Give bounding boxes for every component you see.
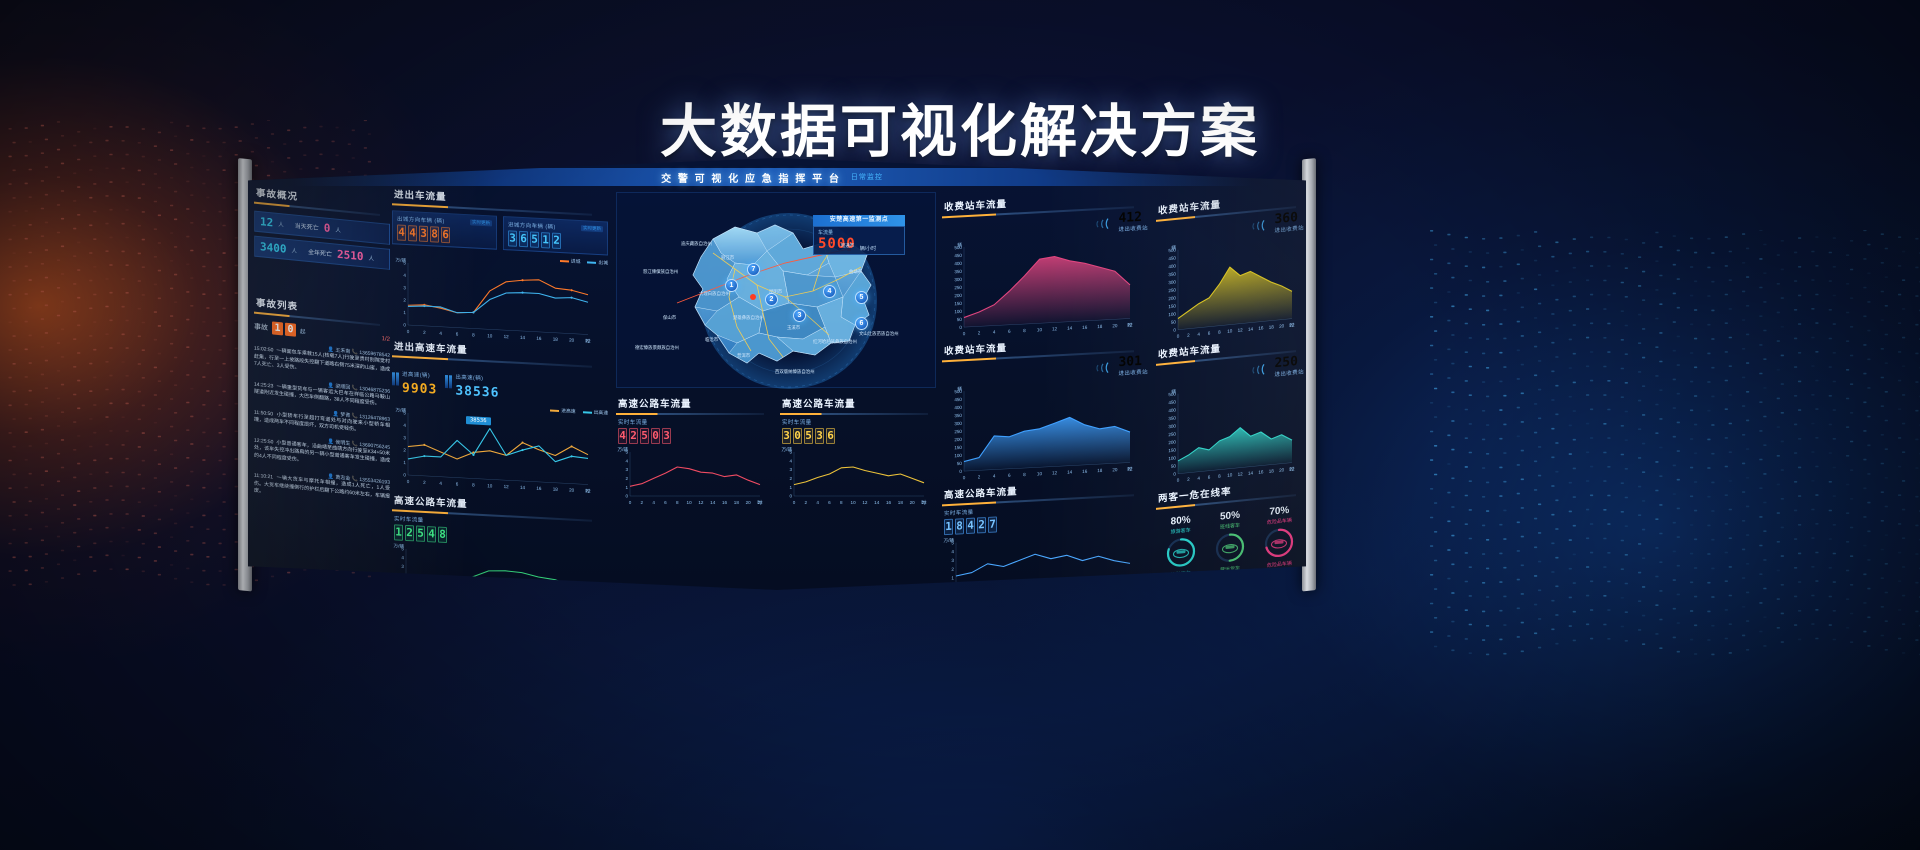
svg-text:10: 10 [487,483,493,488]
svg-text:300: 300 [954,421,962,426]
inout-flow-card: 出城方向车辆 (辆) 实时更新 44386 [392,210,497,250]
page-root: 大数据可视化解决方案 事故概况 12 人 当天死亡 0 人3400 人 全年死亡… [0,0,1920,850]
svg-text:2: 2 [625,476,628,481]
svg-text:3: 3 [403,435,406,440]
svg-text:万/辆: 万/辆 [396,256,407,264]
card-label: 出城方向车辆 (辆) [397,214,445,225]
svg-text:14: 14 [520,335,526,340]
card-tag: 实时更新 [581,225,603,232]
svg-text:150: 150 [1168,448,1176,454]
accident-overview-rows: 12 人 当天死亡 0 人3400 人 全年死亡 2510 人 [254,211,390,270]
page-title: 大数据可视化解决方案 [0,86,1920,168]
digit: 5 [416,525,425,541]
svg-text:4: 4 [789,458,792,463]
map-label: 昆明市 [769,289,782,295]
svg-text:12: 12 [1238,327,1244,333]
svg-text:200: 200 [1168,296,1176,302]
map-label: 怒江傈僳族自治州 [643,269,678,275]
svg-text:时: 时 [585,487,590,493]
svg-text:20: 20 [1112,323,1118,328]
svg-text:8: 8 [1023,328,1026,333]
status-date: 2018-01 [1275,167,1302,176]
svg-text:20: 20 [1112,467,1118,472]
wave-icon [1248,217,1270,233]
svg-text:1: 1 [403,310,406,315]
svg-text:3: 3 [951,558,954,563]
panel-online-rate: 两客一危在线率 80% 旅游客车 旅游客车 5000050% 班线客车 营运货车 [1156,474,1304,590]
screen-surface: 事故概况 12 人 当天死亡 0 人3400 人 全年死亡 2510 人 事故列… [248,158,1306,590]
map-pin-5[interactable]: 5 [855,291,868,304]
online-rate-gauges: 80% 旅游客车 旅游客车 5000050% 班线客车 营运货车 600070%… [1156,503,1304,587]
svg-text:2: 2 [978,474,981,479]
svg-text:4: 4 [401,555,404,560]
map-label: 楚雄彝族自治州 [733,315,764,321]
svg-text:20: 20 [569,487,575,492]
svg-text:450: 450 [1168,256,1176,262]
svg-text:100: 100 [1168,456,1176,462]
svg-text:250: 250 [1168,432,1176,438]
chart: 0123450246810121416182022时万/辆 [780,446,928,506]
legend-item: 出高速 [583,408,608,416]
event-time: 14:25:23 [254,381,273,389]
odometer: 30536 [782,428,938,444]
map-label: 曲靖市 [849,269,862,275]
svg-text:250: 250 [954,429,962,434]
svg-text:350: 350 [954,413,962,418]
map-label: 德宏傣族景颇族自治州 [635,345,679,351]
digit: 7 [988,516,997,532]
svg-text:1: 1 [951,575,954,580]
accident-count-digits: 10 [272,321,296,336]
online-rate-gauge: 80% 旅游客车 旅游客车 50000 [1156,513,1205,587]
svg-text:50: 50 [957,317,963,322]
panel-accident-list: 事故列表 事故 10 起 1/2 👤 王禾南 📞 13659678542 15:… [254,293,390,586]
svg-text:18: 18 [553,337,559,342]
panel-highway-1: 高速公路车流量 实时车流量 42503012345024681012141618… [616,394,774,490]
wave-icon [1092,360,1114,375]
panel-toll-2: 收费站车流量 301 进出收费站 05010015020025030035040… [942,331,1148,480]
svg-text:0: 0 [407,479,410,484]
svg-text:6: 6 [1002,588,1005,590]
map-label: 大理白族自治州 [699,291,730,297]
svg-text:50: 50 [957,461,963,466]
svg-text:20: 20 [1112,582,1118,587]
card-label: 进城方向车辆 (辆) [508,220,556,231]
panel-highway-0: 高速公路车流量 实时车流量 12548012345024681012141618… [392,490,608,590]
svg-text:300: 300 [1168,280,1176,286]
svg-text:2: 2 [1187,477,1190,482]
unit: 人 [278,219,284,228]
svg-text:18: 18 [1269,324,1275,330]
svg-text:2: 2 [423,480,426,485]
svg-text:250: 250 [1168,288,1176,294]
svg-text:4: 4 [403,423,406,428]
svg-text:12: 12 [1238,471,1244,477]
dashboard-column-left-inner: 进出车流量 出城方向车辆 (辆) 实时更新 44386 进城方向车辆 (辆) 实… [388,158,618,590]
svg-text:4: 4 [993,473,996,478]
svg-text:1: 1 [789,485,792,490]
svg-text:18: 18 [1269,468,1275,474]
svg-text:6: 6 [1008,473,1011,478]
svg-text:4: 4 [403,273,406,278]
svg-text:400: 400 [1168,264,1176,270]
map-label: 玉溪市 [787,325,800,331]
wave-icon [1248,361,1270,377]
gauge-ring [1213,529,1247,566]
map-label: 丽江市 [721,255,734,261]
chart: 0123450246810121416182022时万/辆 [392,406,592,494]
event-time: 11:50:50 [254,409,273,417]
map-label: 临沧市 [705,337,718,343]
online-rate-gauge: 50% 班线客车 营运货车 6000 [1205,508,1254,582]
svg-text:2: 2 [789,476,792,481]
svg-text:8: 8 [676,500,679,505]
inout-flow-card: 进城方向车辆 (辆) 实时更新 36512 [503,216,608,256]
map-pin-3[interactable]: 3 [793,309,806,322]
title-underline [616,413,764,415]
status-bar: 南山 2018-01 [1250,167,1302,179]
svg-text:万/辆: 万/辆 [396,406,407,414]
event-time: 15:02:50 [254,346,273,354]
svg-text:2: 2 [1187,333,1190,338]
svg-text:1: 1 [403,460,406,465]
accident-death-label: 全年死亡 [308,247,332,258]
svg-text:10: 10 [1037,327,1043,332]
svg-text:12: 12 [1052,326,1058,331]
svg-text:6: 6 [1208,475,1211,480]
unit: 人 [369,253,375,262]
svg-text:450: 450 [954,397,962,402]
digit: 2 [977,517,986,533]
svg-text:4: 4 [625,458,628,463]
svg-text:16: 16 [1258,469,1264,475]
odometer: 42503 [618,428,774,444]
svg-text:2: 2 [641,500,644,505]
svg-text:4: 4 [439,481,442,486]
svg-text:2: 2 [401,573,404,578]
toll-body: 412 进出收费站 050100150200250300350400450500… [942,211,1148,344]
svg-text:350: 350 [954,269,962,274]
highway-label: 实时车流量 [782,418,938,426]
svg-text:14: 14 [520,485,526,490]
svg-text:0: 0 [1177,334,1180,339]
accident-total: 3400 [260,240,287,256]
map-container[interactable]: 安楚高速第一监测点 车流量 5000 辆/小时 1 2 3 [616,192,936,388]
chart: 0501001502002503003504004505000246810121… [1156,232,1296,342]
panel-highway-2: 高速公路车流量 实时车流量 30536012345024681012141618… [780,394,938,490]
accident-count-suffix: 起 [300,327,306,336]
map-label: 西双版纳傣族自治州 [775,369,815,375]
digit: 1 [944,519,953,535]
digit: 1 [272,321,283,335]
digit: 2 [405,525,414,541]
svg-text:18: 18 [898,500,904,505]
svg-text:0: 0 [1177,478,1180,483]
svg-text:16: 16 [722,500,728,505]
svg-text:20: 20 [1279,467,1285,473]
svg-text:万/辆: 万/辆 [618,446,629,453]
digit: 6 [441,227,450,243]
svg-text:200: 200 [1168,440,1176,446]
card-label: 进高速(辆) [402,372,430,379]
dashboard-column-left-outer: 事故概况 12 人 当天死亡 0 人3400 人 全年死亡 2510 人 事故列… [248,158,396,590]
svg-text:10: 10 [687,500,693,505]
svg-text:22: 22 [1127,581,1133,586]
svg-text:4: 4 [951,549,954,554]
svg-text:1: 1 [625,485,628,490]
gauge-ring [1262,524,1296,561]
panel-expressway-inout: 进出高速车流量 进高速(辆) 9903 出高速(辆) 38536 进高速出高速0… [392,336,608,495]
accident-event-item[interactable]: 👤 黄志金 📞 13553426193 11:10:21 一辆大货车与摩托车相撞… [254,466,390,509]
chart: 0123450246810121416182022时万/辆 [392,256,592,344]
svg-text:3: 3 [403,285,406,290]
svg-text:300: 300 [954,277,962,282]
gauge-ring [1164,534,1198,571]
accident-death-count: 0 [324,221,331,235]
digit: 1 [394,524,403,540]
svg-text:10: 10 [851,500,857,505]
panel-toll-3: 收费站车流量 250 进出收费站 05010015020025030035040… [1156,330,1304,483]
panel-highway-3: 高速公路车流量 实时车流量 18427012345024681012141618… [942,475,1148,582]
map-tooltip-unit: 辆/小时 [860,245,876,252]
svg-text:万/辆: 万/辆 [394,542,405,550]
status-location: 南山 [1250,170,1269,179]
svg-text:0: 0 [403,322,406,327]
odometer: 36512 [508,230,603,251]
dashboard: 事故概况 12 人 当天死亡 0 人3400 人 全年死亡 2510 人 事故列… [248,158,1306,590]
chart: 0123450246810121416182022时万/辆 [942,527,1134,590]
svg-text:6: 6 [664,500,667,505]
expressway-card: 进高速(辆) 9903 [392,362,437,397]
svg-text:12: 12 [504,484,510,489]
svg-text:6: 6 [828,500,831,505]
chart: 0123450246810121416182022时万/辆 [392,542,592,590]
svg-text:150: 150 [954,301,962,306]
digit: 6 [519,231,528,247]
highway-title: 高速公路车流量 [780,394,938,413]
svg-text:时: 时 [921,499,926,505]
svg-text:2: 2 [978,330,981,335]
svg-text:万/辆: 万/辆 [782,446,793,453]
svg-text:12: 12 [698,500,704,505]
svg-text:20: 20 [910,500,916,505]
svg-text:16: 16 [1080,584,1086,589]
map-tooltip-title: 安楚高速第一监测点 [813,215,905,226]
panel-inout-flow: 进出车流量 出城方向车辆 (辆) 实时更新 44386 进城方向车辆 (辆) 实… [392,184,608,341]
svg-text:100: 100 [954,453,962,458]
digit: 5 [640,428,649,444]
svg-text:0: 0 [789,494,792,499]
svg-text:10: 10 [1037,471,1043,476]
digit: 4 [618,428,627,444]
svg-text:14: 14 [1067,469,1073,474]
svg-text:50: 50 [1171,320,1177,326]
svg-text:250: 250 [954,285,962,290]
accident-event-list[interactable]: 👤 王禾南 📞 13659678542 15:02:50 一辆面包车乘载15人(… [254,339,390,509]
inout-flow-chart: 进城出城0123450246810121416182022时万/辆 [392,248,608,350]
svg-text:2: 2 [951,567,954,572]
svg-text:0: 0 [951,584,954,589]
svg-text:0: 0 [959,325,962,330]
svg-text:20: 20 [569,337,575,342]
digit: 0 [793,428,802,444]
digit: 3 [662,428,671,444]
digit: 4 [427,526,436,542]
svg-text:4: 4 [816,500,819,505]
map-label: 迪庆藏族自治州 [681,241,712,247]
svg-text:400: 400 [1168,408,1176,414]
svg-text:2: 2 [805,500,808,505]
svg-text:18: 18 [1096,583,1102,588]
digit: 3 [815,428,824,444]
svg-text:14: 14 [1248,470,1254,476]
digit: 3 [508,230,517,246]
highway-label: 实时车流量 [618,418,774,426]
svg-text:0: 0 [629,500,632,505]
svg-text:14: 14 [1064,585,1070,590]
svg-text:12: 12 [1048,585,1054,590]
inout-flow-cards: 出城方向车辆 (辆) 实时更新 44386 进城方向车辆 (辆) 实时更新 36… [392,210,608,255]
svg-text:8: 8 [472,482,475,487]
svg-text:16: 16 [1258,325,1264,331]
svg-text:4: 4 [1197,332,1200,337]
svg-text:450: 450 [954,253,962,258]
unit: 人 [335,225,341,234]
toll-body: 360 进出收费站 050100150200250300350400450500… [1156,210,1304,347]
svg-text:200: 200 [954,293,962,298]
map-pin-7[interactable]: 7 [747,263,760,276]
chart: 0501001502002503003504004505000246810121… [942,232,1134,338]
svg-text:14: 14 [1067,325,1073,330]
card-value: 9903 [402,381,437,398]
svg-text:8: 8 [1218,474,1221,479]
svg-text:3: 3 [401,564,404,569]
highway-body: 实时车流量 305360123450246810121416182022时万/辆 [780,418,938,511]
chart-tooltip: 38536 [466,416,491,425]
accident-event-item[interactable]: 👤 王禾南 📞 13659678542 15:02:50 一辆面包车乘载15人(… [254,339,390,382]
svg-text:200: 200 [954,437,962,442]
legend-item: 进高速 [550,406,575,414]
svg-text:2: 2 [403,448,406,453]
expressway-card: 出高速(辆) 38536 [445,365,499,401]
map-label: 红河哈尼族彝族自治州 [813,339,857,345]
svg-text:16: 16 [886,500,892,505]
svg-text:350: 350 [1168,416,1176,422]
digit: 1 [541,232,550,248]
svg-text:0: 0 [963,331,966,336]
svg-text:400: 400 [954,405,962,410]
svg-text:0: 0 [625,494,628,499]
title-underline [780,413,928,415]
map-label: 昭通市 [841,243,854,249]
card-tag: 实时更新 [470,219,492,226]
svg-text:16: 16 [536,336,542,341]
digit: 5 [804,428,813,444]
svg-text:4: 4 [439,331,442,336]
digit: 2 [629,428,638,444]
svg-text:100: 100 [954,309,962,314]
card-label: 出高速(辆) [455,375,483,382]
map-pin-4[interactable]: 4 [823,285,836,298]
svg-text:4: 4 [652,500,655,505]
video-wall: 事故概况 12 人 当天死亡 0 人3400 人 全年死亡 2510 人 事故列… [238,158,1316,590]
svg-text:时: 时 [1289,465,1294,471]
svg-text:10: 10 [487,333,493,338]
svg-text:18: 18 [553,487,559,492]
digit: 8 [438,527,447,543]
svg-text:8: 8 [1023,472,1026,477]
svg-text:0: 0 [1173,472,1176,477]
svg-text:14: 14 [1248,326,1254,332]
svg-text:4: 4 [993,329,996,334]
digit: 0 [651,428,660,444]
svg-text:0: 0 [959,469,962,474]
svg-text:6: 6 [456,482,459,487]
svg-text:0: 0 [963,475,966,480]
svg-text:100: 100 [1168,312,1176,318]
digit: 8 [430,226,439,242]
svg-text:时: 时 [585,337,590,343]
chart: 0123450246810121416182022时万/辆 [616,446,764,506]
digit: 2 [552,233,561,249]
panel-toll-1: 收费站车流量 360 进出收费站 05010015020025030035040… [1156,186,1304,339]
gauge-value: 6000 [1205,571,1254,582]
header-title: 交 警 可 视 化 应 急 指 挥 平 台 [661,170,841,185]
svg-text:8: 8 [1218,330,1221,335]
svg-text:6: 6 [1208,331,1211,336]
svg-text:16: 16 [1082,325,1088,330]
svg-text:1: 1 [401,582,404,587]
highway-body: 实时车流量 125480123450246810121416182022时万/辆 [392,514,608,590]
odometer: 44386 [397,224,492,245]
svg-text:150: 150 [1168,304,1176,310]
digit: 0 [285,323,296,337]
dashboard-column-center: 交 警 可 视 化 应 急 指 挥 平 台 日常监控 [612,158,942,590]
svg-text:12: 12 [504,334,510,339]
svg-text:450: 450 [1168,400,1176,406]
header-mode[interactable]: 日常监控 [851,172,883,182]
accident-count-prefix: 事故 [254,321,268,332]
svg-text:14: 14 [874,500,880,505]
svg-text:16: 16 [1082,469,1088,474]
legend-item: 出城 [587,258,608,266]
map-pin-6[interactable]: 6 [855,317,868,330]
svg-text:0: 0 [403,472,406,477]
svg-text:0: 0 [793,500,796,505]
svg-text:20: 20 [746,500,752,505]
svg-text:18: 18 [1097,324,1103,329]
digit: 4 [397,224,406,240]
chart: 0501001502002503003504004505000246810121… [942,376,1134,482]
online-rate-gauge: 70% 危险品车辆 危险品车辆 5000 [1255,503,1304,577]
svg-text:时: 时 [757,499,762,505]
gauge-value: 50000 [1156,576,1205,587]
svg-text:时: 时 [1127,580,1132,586]
map-tooltip: 安楚高速第一监测点 车流量 5000 辆/小时 [813,215,905,255]
accident-event-item[interactable]: 👤 侯明生 📞 13690756245 12:25:50 小型普通客车，沿曲靖至… [254,430,390,473]
digit: 8 [955,518,964,534]
svg-text:2: 2 [423,330,426,335]
map-label: 普洱市 [737,353,750,359]
svg-text:8: 8 [472,332,475,337]
svg-text:50: 50 [1171,464,1177,470]
map-tooltip-label: 车流量 [818,229,900,236]
svg-text:10: 10 [1227,472,1233,478]
accident-death-label: 当天死亡 [295,221,319,232]
accident-total: 12 [260,215,273,229]
panel-toll-0: 收费站车流量 412 进出收费站 05010015020025030035040… [942,187,1148,336]
svg-text:16: 16 [536,486,542,491]
